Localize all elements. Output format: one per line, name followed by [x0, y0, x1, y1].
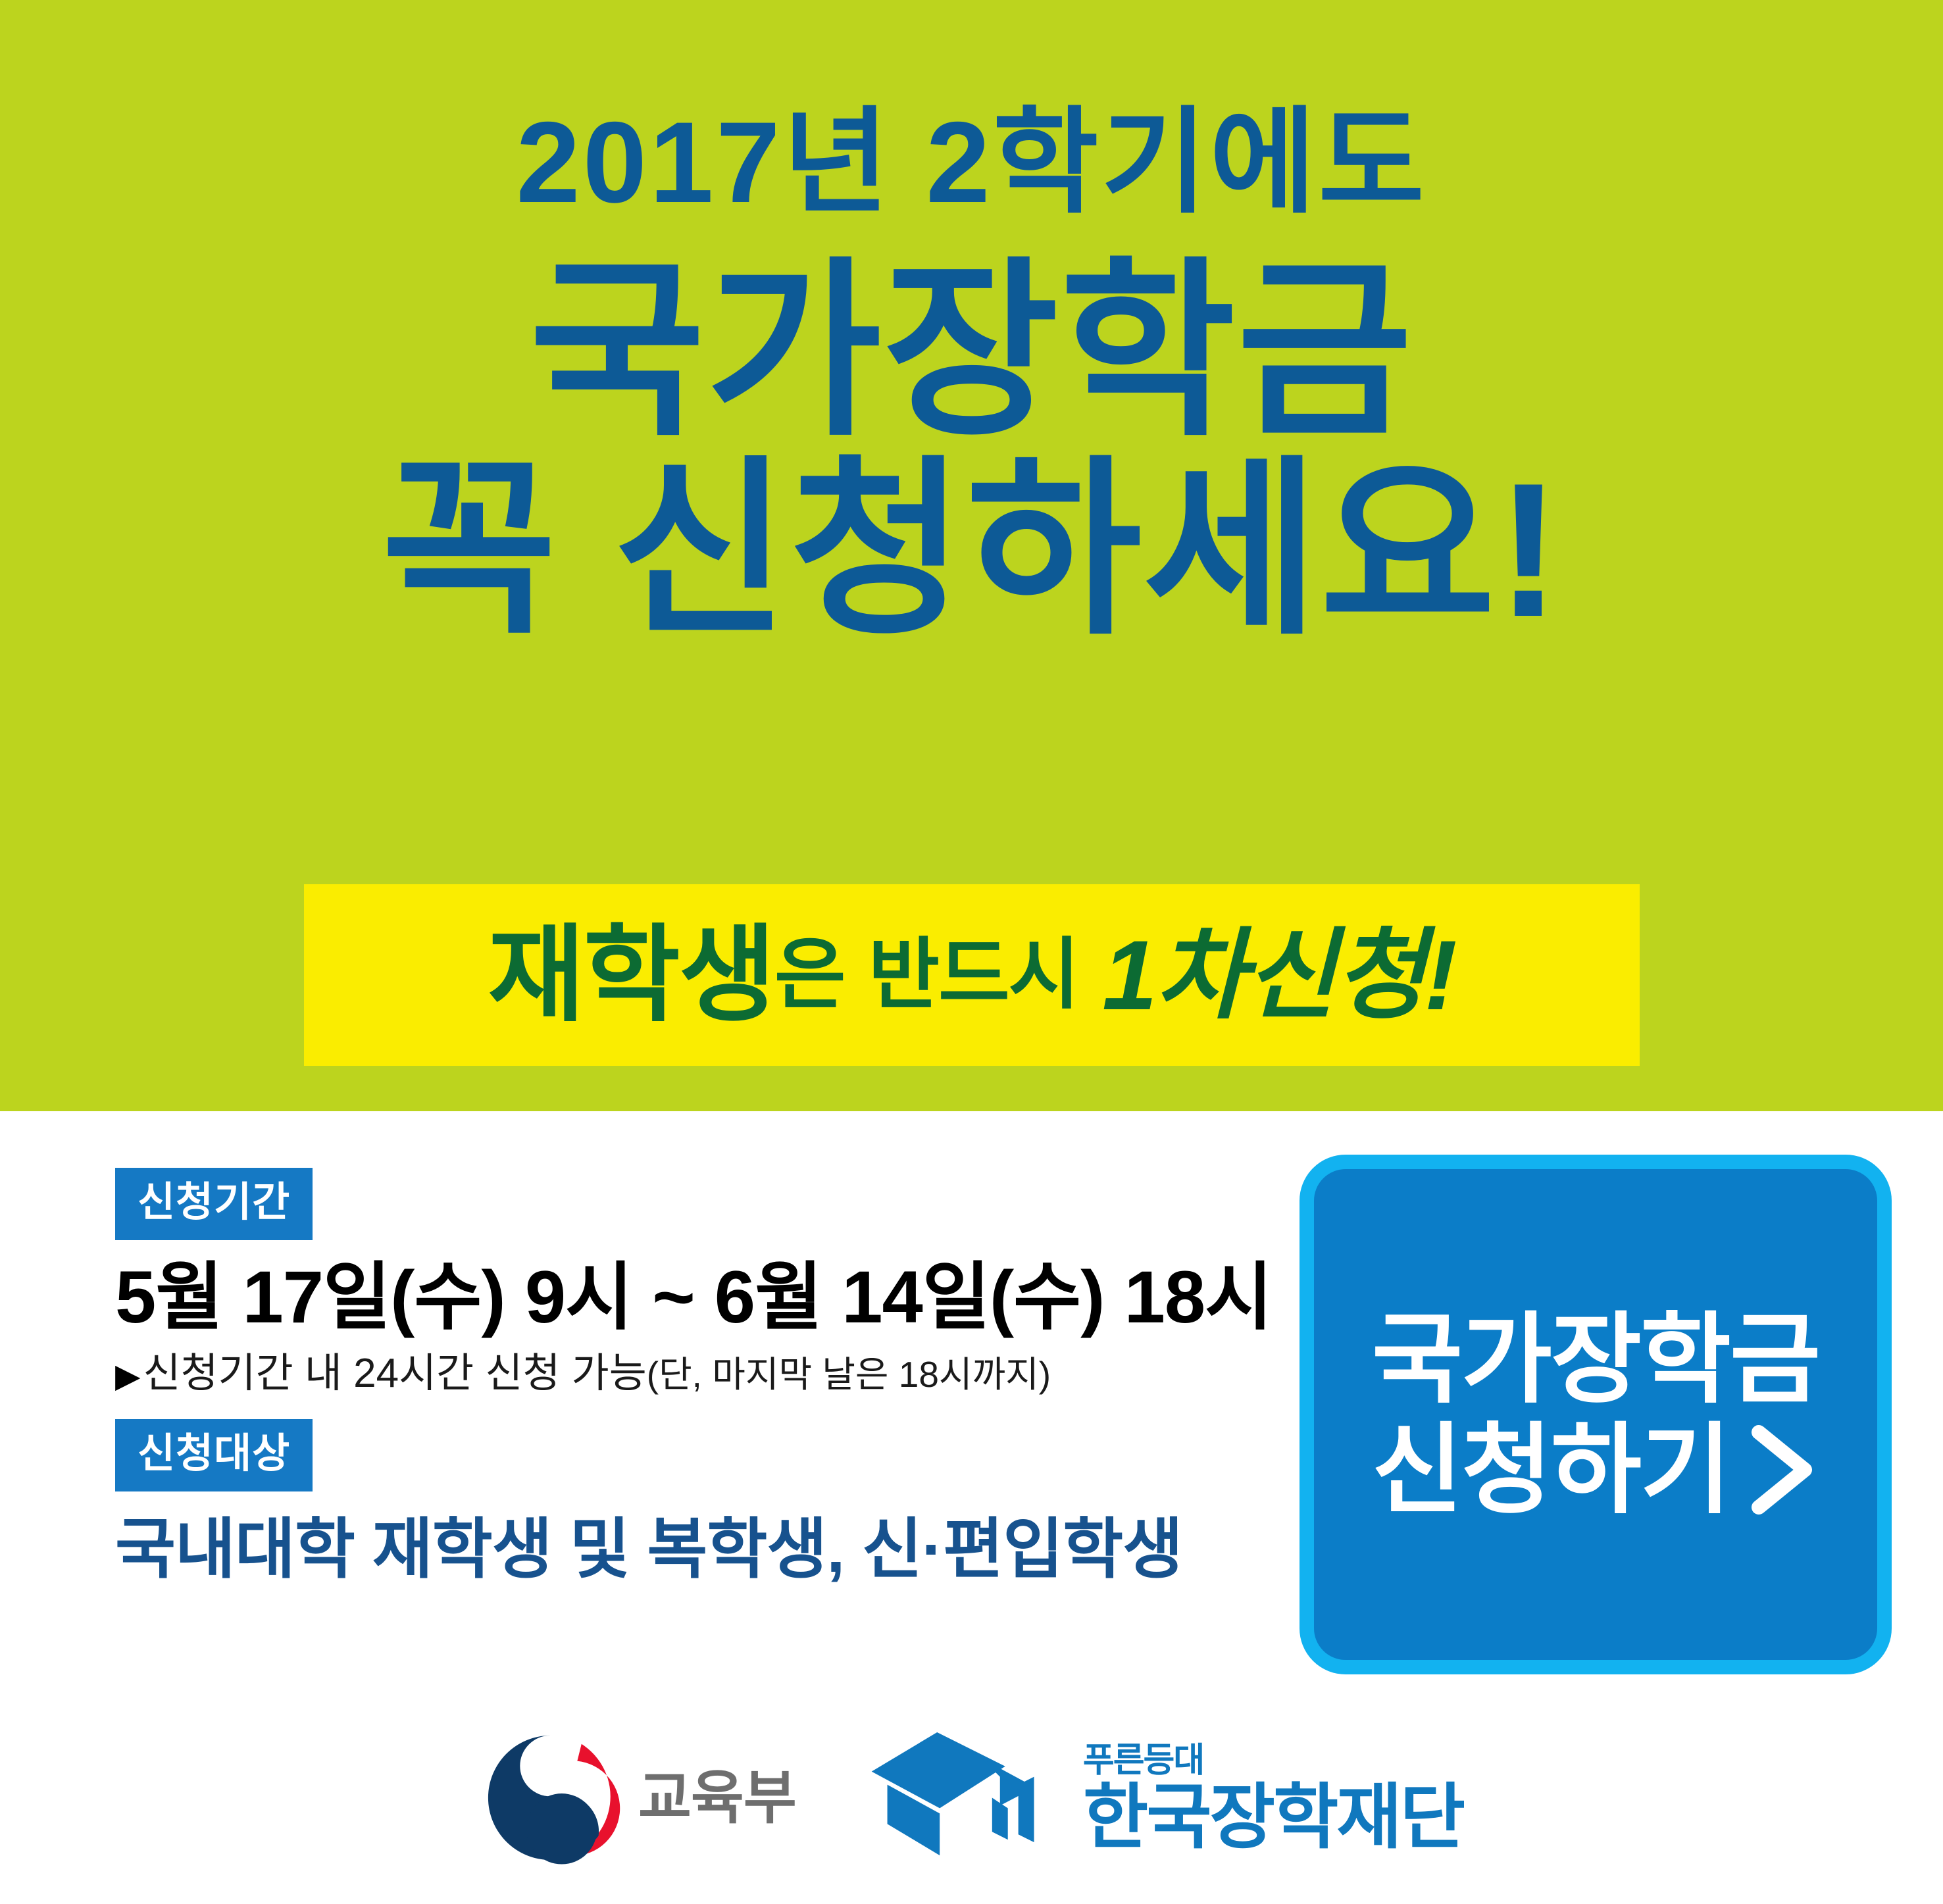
- apply-scholarship-button[interactable]: 국가장학금 신청하기: [1300, 1155, 1892, 1674]
- info-details: 신청기간 5월 17일(수) 9시 ~ 6월 14일(수) 18시 ▶ 신청기간…: [115, 1168, 1273, 1585]
- kosaf-wordmark: 푸른등대 한국장학재단: [1083, 1743, 1463, 1853]
- graduation-cap-icon: [869, 1727, 1066, 1868]
- hero-title-cta: 꼭 신청하세요!: [382, 453, 1562, 648]
- period-note: ▶ 신청기간 내 24시간 신청 가능 (단, 마지막 날은 18시까지): [115, 1350, 1273, 1397]
- highlight-text-part2: 은: [774, 936, 845, 1014]
- period-note-main: 신청기간 내 24시간 신청 가능: [143, 1350, 646, 1397]
- highlight-text-part1: 재학생: [488, 922, 774, 1028]
- hero-subtitle: 2017년 2학기에도: [516, 105, 1426, 220]
- target-badge: 신청대상: [115, 1419, 313, 1491]
- ministry-of-education-logo: 교육부: [480, 1727, 796, 1868]
- cta-line-2: 신청하기: [1372, 1415, 1730, 1525]
- chevron-right-icon: [1747, 1420, 1819, 1519]
- kosaf-label: 한국장학재단: [1083, 1782, 1463, 1853]
- target-value: 국내대학 재학생 및 복학생, 신·편입학생: [115, 1514, 1273, 1585]
- logo-strip: 교육부 푸른등대 한국장학재단: [0, 1727, 1943, 1904]
- period-badge: 신청기간: [115, 1168, 313, 1240]
- korea-government-taegeuk-emblem-icon: [480, 1727, 621, 1868]
- scholarship-promo-banner: 2017년 2학기에도 국가장학금 꼭 신청하세요! 재학생 은 반드시 1차신…: [0, 0, 1943, 1904]
- cta-line-2-row: 신청하기: [1372, 1415, 1819, 1525]
- caret-icon: ▶: [115, 1357, 140, 1395]
- ministry-of-education-label: 교육부: [638, 1769, 796, 1827]
- highlight-text-part4: 1차신청!: [1102, 926, 1455, 1024]
- kosaf-logo: 푸른등대 한국장학재단: [869, 1727, 1463, 1868]
- highlight-band: 재학생 은 반드시 1차신청!: [304, 884, 1640, 1066]
- kosaf-sublabel: 푸른등대: [1083, 1743, 1463, 1778]
- cta-line-1: 국가장학금: [1372, 1304, 1819, 1415]
- period-value: 5월 17일(수) 9시 ~ 6월 14일(수) 18시: [115, 1259, 1273, 1337]
- period-note-paren: (단, 마지막 날은 18시까지): [647, 1354, 1051, 1395]
- highlight-text-part3: 반드시: [869, 936, 1079, 1014]
- hero-title-main: 국가장학금: [530, 255, 1414, 449]
